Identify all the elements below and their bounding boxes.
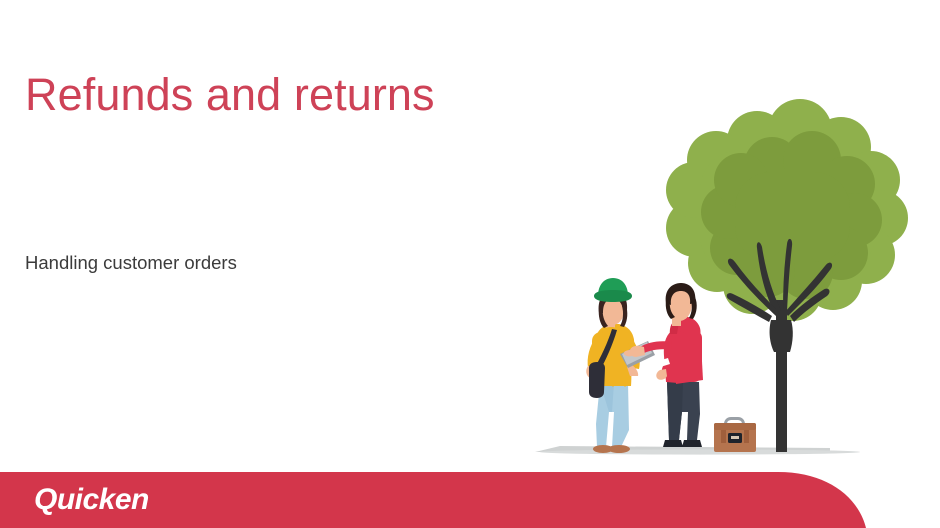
- tree: [666, 99, 908, 452]
- page-title: Refunds and returns: [25, 68, 435, 121]
- page-subtitle: Handling customer orders: [25, 252, 237, 274]
- figure-woman: [586, 278, 655, 453]
- quicken-logo: Quicken: [34, 483, 149, 517]
- slide-canvas: Refunds and returns Handling customer or…: [0, 0, 940, 528]
- ground-shadow: [535, 446, 860, 455]
- briefcase: [714, 417, 756, 452]
